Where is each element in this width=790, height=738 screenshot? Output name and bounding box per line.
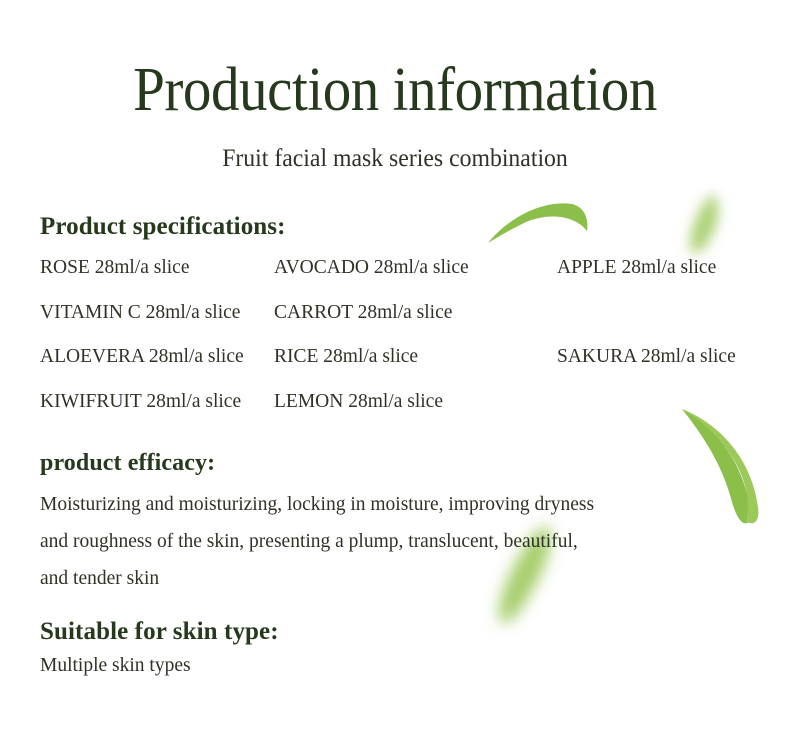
specifications-heading: Product specifications: [40, 212, 286, 242]
table-row: ROSE 28ml/a slice AVOCADO 28ml/a slice A… [40, 258, 760, 303]
spec-cell [557, 303, 760, 348]
table-row: VITAMIN C 28ml/a slice CARROT 28ml/a sli… [40, 303, 760, 348]
spec-cell: CARROT 28ml/a slice [274, 303, 557, 348]
spec-cell: KIWIFRUIT 28ml/a slice [40, 392, 274, 437]
page-title: Production information [32, 58, 759, 123]
specifications-table: ROSE 28ml/a slice AVOCADO 28ml/a slice A… [40, 258, 760, 436]
spec-cell: APPLE 28ml/a slice [557, 258, 760, 303]
efficacy-line: and tender skin [40, 560, 755, 597]
spec-cell: RICE 28ml/a slice [274, 347, 557, 392]
spec-cell: VITAMIN C 28ml/a slice [40, 303, 274, 348]
table-row: ALOEVERA 28ml/a slice RICE 28ml/a slice … [40, 347, 760, 392]
document-content: Production information Fruit facial mask… [0, 0, 790, 738]
product-info-page: Production information Fruit facial mask… [0, 0, 790, 738]
spec-cell: SAKURA 28ml/a slice [557, 347, 760, 392]
spec-cell [557, 392, 760, 437]
table-row: KIWIFRUIT 28ml/a slice LEMON 28ml/a slic… [40, 392, 760, 437]
efficacy-line: and roughness of the skin, presenting a … [40, 523, 755, 560]
skin-type-value: Multiple skin types [40, 654, 191, 677]
efficacy-line: Moisturizing and moisturizing, locking i… [40, 486, 755, 523]
efficacy-body: Moisturizing and moisturizing, locking i… [40, 486, 755, 597]
spec-cell: ROSE 28ml/a slice [40, 258, 274, 303]
efficacy-heading: product efficacy: [40, 449, 215, 478]
spec-cell: ALOEVERA 28ml/a slice [40, 347, 274, 392]
skin-type-heading: Suitable for skin type: [40, 617, 279, 647]
spec-cell: LEMON 28ml/a slice [274, 392, 557, 437]
spec-cell: AVOCADO 28ml/a slice [274, 258, 557, 303]
page-subtitle: Fruit facial mask series combination [20, 144, 771, 174]
